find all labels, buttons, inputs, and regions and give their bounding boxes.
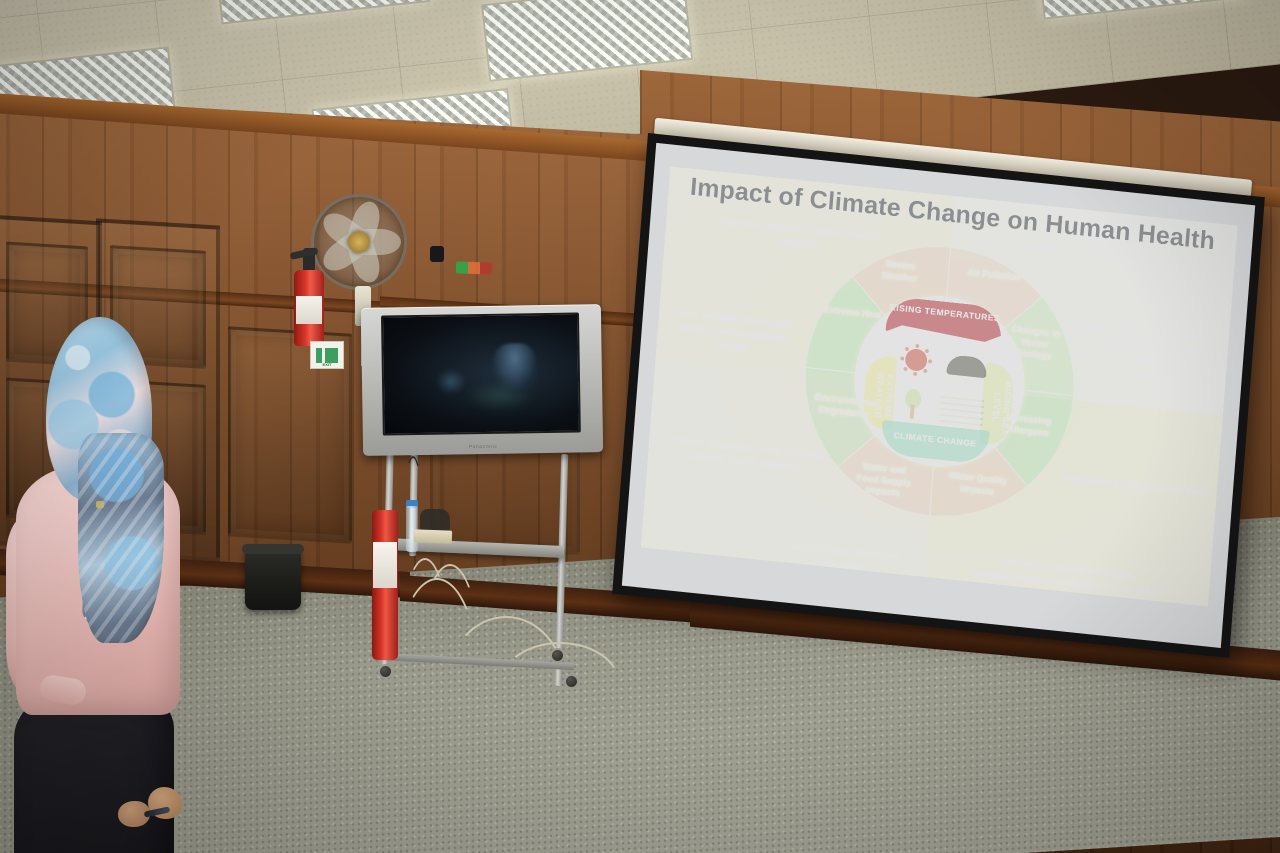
slide-caption-bottom-right: Respiratory allergies, asthma <box>1049 469 1219 501</box>
wall-switch-plate[interactable] <box>456 261 492 274</box>
projection-screen-border: Impact of Climate Change on Human Health… <box>612 133 1265 658</box>
wheel-label-water-food-supply: Water and Food Supply Impacts <box>852 460 916 501</box>
projection-screen-assembly: Impact of Climate Change on Human Health… <box>611 133 1280 678</box>
fire-extinguisher-floor <box>372 485 398 660</box>
tv-cable <box>402 456 424 526</box>
tree-icon <box>899 388 927 423</box>
emergency-exit-sign: EXIT <box>310 341 344 369</box>
tv-screen <box>381 312 581 435</box>
photo-scene: EXIT Panasonic <box>0 0 1280 853</box>
presentation-slide: Impact of Climate Change on Human Health… <box>641 166 1238 606</box>
exit-sign-label: EXIT <box>311 362 343 367</box>
slide-caption-bottom-center-right: Cholera, cryptosporidiosis, campylobacte… <box>968 552 1165 607</box>
projection-screen-surface: Impact of Climate Change on Human Health… <box>622 143 1255 648</box>
wall-fan[interactable] <box>311 194 407 290</box>
cart-caster <box>564 674 579 689</box>
presenter-badge <box>96 501 104 508</box>
fire-extinguisher-wall[interactable] <box>294 248 324 346</box>
extinguisher-label <box>373 542 397 588</box>
slide-caption-left: Heat-related illness and death, cardiova… <box>662 305 805 362</box>
fan-hub <box>348 231 370 253</box>
presenter-scarf-drape <box>78 433 164 643</box>
sun-icon <box>904 348 928 372</box>
extinguisher-body <box>294 270 324 346</box>
slide-caption-bottom-center-left: Malnutrition, diarrheal disease <box>768 537 919 581</box>
cable-coil <box>420 509 450 531</box>
power-strip[interactable] <box>414 529 452 543</box>
slide-caption-bottom-left: Forced migration, civil conflict, mental… <box>666 433 827 478</box>
document-lines-icon <box>938 396 984 426</box>
tv-image-glow <box>465 379 535 412</box>
presenter <box>0 305 210 853</box>
climate-health-wheel: Severe Weather Air Pollution Changes in … <box>795 233 1085 530</box>
extinguisher-label <box>296 296 322 324</box>
cloud-icon <box>946 354 987 378</box>
presenter-skirt <box>14 697 174 853</box>
wall-sensor-icon <box>430 246 444 262</box>
cart-caster <box>378 664 393 679</box>
cart-caster <box>550 648 565 663</box>
slide-caption-top-left: Injuries, fatalities, mental health impa… <box>719 214 880 259</box>
flat-panel-television: Panasonic <box>361 304 603 456</box>
tv-image-figure <box>436 368 466 394</box>
extinguisher-body <box>372 510 398 660</box>
slide-caption-right: Malaria, dengue, encephalitis, hantaviru… <box>1056 316 1238 392</box>
trash-bin <box>245 548 301 610</box>
tv-brand-label: Panasonic <box>469 444 498 450</box>
exit-arrow-icon <box>316 348 338 363</box>
